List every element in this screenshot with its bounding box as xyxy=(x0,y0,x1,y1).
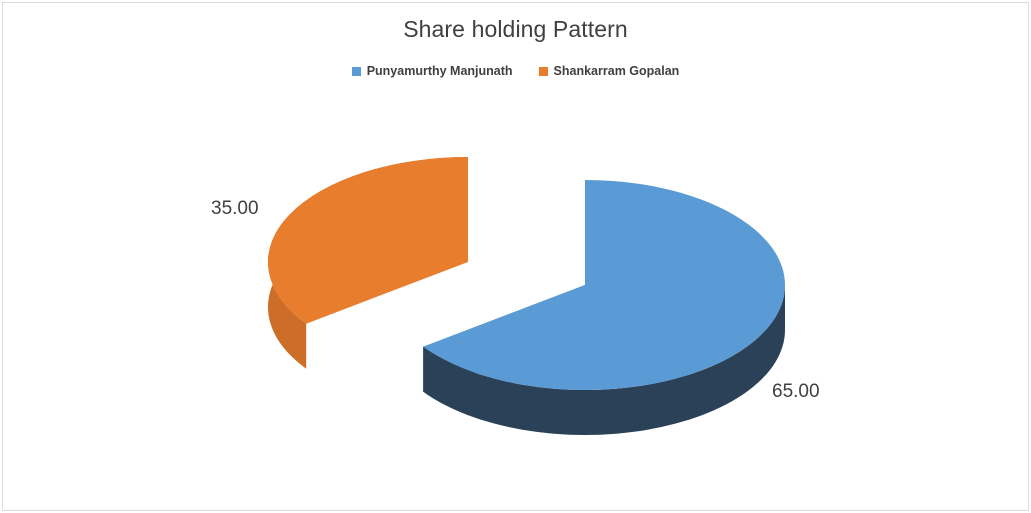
pie-slice-orange-top xyxy=(268,157,468,324)
data-label-punyamurthy-manjunath: 65.00 xyxy=(772,381,820,403)
pie-chart-3d xyxy=(0,0,1031,513)
data-label-shankarram-gopalan: 35.00 xyxy=(211,198,259,220)
chart-container: Share holding Pattern Punyamurthy Manjun… xyxy=(0,0,1031,513)
